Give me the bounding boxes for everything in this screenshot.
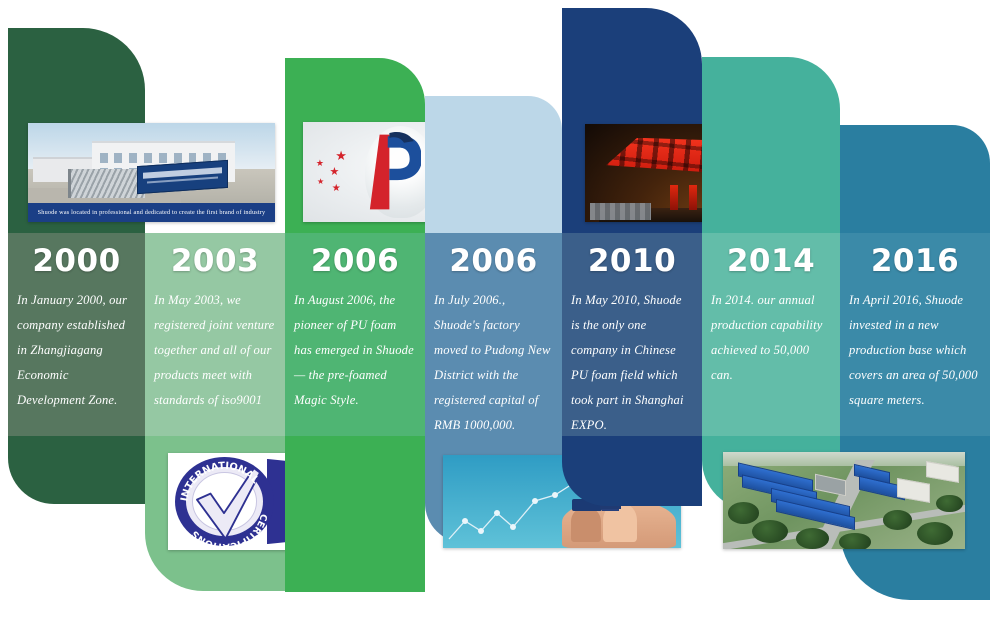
column-bottom-block <box>8 436 145 504</box>
svg-text:CERTIFICATIONS: CERTIFICATIONS <box>190 512 269 550</box>
timeline-column-2000: 2000 In January 2000, our company establ… <box>8 0 145 620</box>
milestone-text-2000: In January 2000, our company established… <box>8 288 145 413</box>
year-label-2010: 2010 <box>562 246 702 277</box>
tree <box>883 510 912 529</box>
tree <box>917 522 953 545</box>
red-stars-icon: ★ ★ ★ ★ ★ <box>312 148 369 196</box>
milestone-text-2010: In May 2010, Shuode is the only one comp… <box>562 288 702 438</box>
year-label-2016: 2016 <box>840 246 990 277</box>
milestone-text-2003: In May 2003, we registered joint venture… <box>145 288 285 413</box>
photo-window <box>114 153 122 163</box>
year-label-2000: 2000 <box>8 246 145 277</box>
svg-text:INTERNATIONAL: INTERNATIONAL <box>179 461 261 502</box>
timeline-column-2010: 2010 In May 2010, Shuode is the only one… <box>562 0 702 620</box>
column-top-block <box>702 57 840 233</box>
year-label-2006-august: 2006 <box>285 246 425 277</box>
milestone-text-2006-july: In July 2006., Shuode's factory moved to… <box>425 288 562 438</box>
seal-ring-text: INTERNATIONAL CERTIFICATIONS <box>175 457 274 550</box>
photo-sliding-gate <box>68 169 145 199</box>
year-label-2014: 2014 <box>702 246 840 277</box>
tree <box>796 528 830 549</box>
timeline-infographic: 2000 In January 2000, our company establ… <box>0 0 1000 620</box>
tree <box>728 502 759 523</box>
aerial-factory-park-photo <box>723 452 965 549</box>
foreground-wall <box>590 203 651 220</box>
milestone-text-2014: In 2014. our annual production capabilit… <box>702 288 840 388</box>
year-label-2006-july: 2006 <box>425 246 562 277</box>
milestone-text-2016: In April 2016, Shuode invested in a new … <box>840 288 990 413</box>
photo-window <box>129 153 137 163</box>
tree <box>936 495 963 512</box>
column-bottom-block <box>285 436 425 592</box>
photo-window <box>100 153 108 163</box>
column-bottom-block <box>562 436 702 506</box>
tree <box>839 533 870 549</box>
pavilion-column <box>670 185 678 210</box>
certification-seal-icon: INTERNATIONAL CERTIFICATIONS <box>175 457 274 546</box>
sipo-emblem-icon <box>365 130 422 214</box>
year-label-2003: 2003 <box>145 246 285 277</box>
timeline-column-2006-august: 2006 In August 2006, the pioneer of PU f… <box>285 0 425 620</box>
column-top-block <box>840 125 990 233</box>
pavilion-column <box>689 185 697 210</box>
milestone-text-2006-august: In August 2006, the pioneer of PU foam h… <box>285 288 425 413</box>
column-top-block <box>425 96 562 233</box>
